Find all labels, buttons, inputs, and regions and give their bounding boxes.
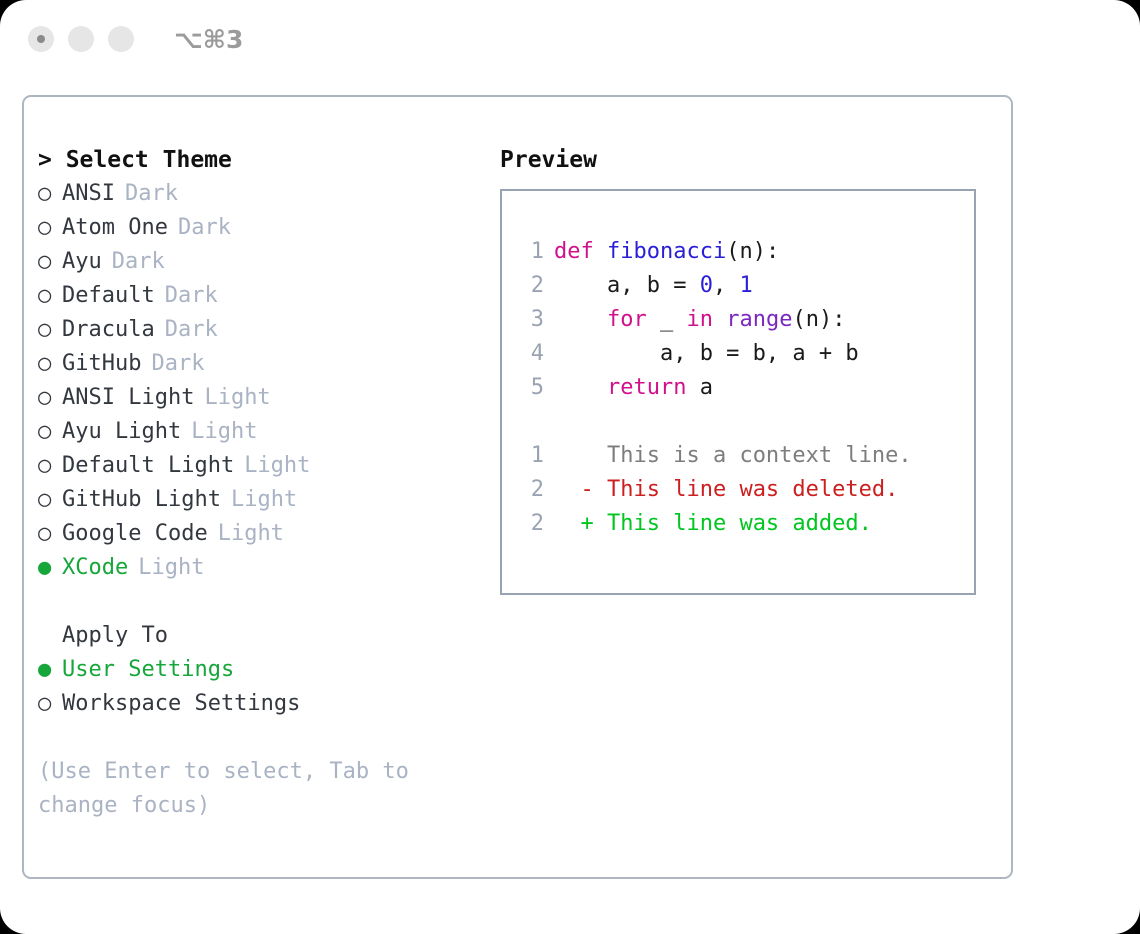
theme-list-item[interactable]: ○Google CodeLight xyxy=(38,517,488,551)
diff-sample: 1 This is a context line.2 - This line w… xyxy=(516,439,974,541)
theme-list-item[interactable]: ○GitHub LightLight xyxy=(38,483,488,517)
diff-line: 1 This is a context line. xyxy=(516,439,974,473)
theme-variant-tag: Dark xyxy=(112,245,165,279)
window-dot-active-icon[interactable] xyxy=(28,26,54,52)
apply-to-item[interactable]: ●User Settings xyxy=(38,653,488,687)
theme-name: ANSI xyxy=(62,177,115,211)
theme-variant-tag: Light xyxy=(191,415,257,449)
theme-name: Ayu Light xyxy=(62,415,181,449)
keyboard-hint-text: (Use Enter to select, Tab to change focu… xyxy=(38,755,458,823)
theme-name: Default xyxy=(62,279,155,313)
code-token: (n): xyxy=(792,307,845,332)
theme-selection-column: > Select Theme ○ANSIDark○Atom OneDark○Ay… xyxy=(38,143,488,823)
code-token: 0 xyxy=(700,273,713,298)
radio-unselected-icon[interactable]: ○ xyxy=(38,177,62,211)
theme-variant-tag: Dark xyxy=(125,177,178,211)
theme-variant-tag: Dark xyxy=(165,313,218,347)
code-token: for xyxy=(607,307,647,332)
line-number: 3 xyxy=(516,303,544,337)
theme-list-item[interactable]: ○ANSIDark xyxy=(38,177,488,211)
spacer xyxy=(38,585,488,619)
radio-unselected-icon[interactable]: ○ xyxy=(38,415,62,449)
theme-list[interactable]: ○ANSIDark○Atom OneDark○AyuDark○DefaultDa… xyxy=(38,177,488,585)
keyboard-shortcut-label: ⌥⌘3 xyxy=(174,25,243,54)
line-number: 5 xyxy=(516,371,544,405)
code-token: return xyxy=(607,375,686,400)
line-number: 4 xyxy=(516,337,544,371)
title-bar: ⌥⌘3 xyxy=(0,0,1140,78)
theme-name: Google Code xyxy=(62,517,208,551)
line-number: 1 xyxy=(516,235,544,269)
diff-text: This is a context line. xyxy=(594,443,912,468)
theme-list-item[interactable]: ○ANSI LightLight xyxy=(38,381,488,415)
line-number: 1 xyxy=(516,439,544,473)
code-token: 1 xyxy=(739,273,752,298)
theme-variant-tag: Light xyxy=(138,551,204,585)
code-sample: 1def fibonacci(n):2 a, b = 0, 13 for _ i… xyxy=(516,235,974,405)
radio-unselected-icon[interactable]: ○ xyxy=(38,517,62,551)
line-number: 2 xyxy=(516,507,544,541)
theme-list-item[interactable]: ○AyuDark xyxy=(38,245,488,279)
theme-list-item[interactable]: ○Ayu LightLight xyxy=(38,415,488,449)
code-line: 1def fibonacci(n): xyxy=(516,235,974,269)
window-dot-2-icon[interactable] xyxy=(68,26,94,52)
apply-to-item[interactable]: ○Workspace Settings xyxy=(38,687,488,721)
diff-sign: + xyxy=(554,511,594,536)
theme-variant-tag: Dark xyxy=(151,347,204,381)
theme-name: GitHub Light xyxy=(62,483,221,517)
line-number: 2 xyxy=(516,269,544,303)
theme-name: GitHub xyxy=(62,347,141,381)
theme-name: Ayu xyxy=(62,245,102,279)
radio-unselected-icon[interactable]: ○ xyxy=(38,483,62,517)
code-token: a, b = xyxy=(554,273,700,298)
theme-variant-tag: Dark xyxy=(165,279,218,313)
traffic-light-group xyxy=(28,26,134,52)
theme-list-item[interactable]: ○DraculaDark xyxy=(38,313,488,347)
theme-variant-tag: Light xyxy=(231,483,297,517)
code-token xyxy=(554,375,607,400)
radio-unselected-icon[interactable]: ○ xyxy=(38,449,62,483)
theme-variant-tag: Light xyxy=(204,381,270,415)
theme-name: XCode xyxy=(62,551,128,585)
diff-text: This line was deleted. xyxy=(594,477,899,502)
theme-list-item[interactable]: ○DefaultDark xyxy=(38,279,488,313)
code-line: 5 return a xyxy=(516,371,974,405)
diff-text: This line was added. xyxy=(594,511,872,536)
code-token: in xyxy=(686,307,713,332)
code-token xyxy=(713,307,726,332)
apply-to-heading: Apply To xyxy=(38,619,488,653)
code-token xyxy=(554,307,607,332)
theme-list-item[interactable]: ●XCodeLight xyxy=(38,551,488,585)
radio-selected-icon[interactable]: ● xyxy=(38,551,62,585)
theme-list-item[interactable]: ○Atom OneDark xyxy=(38,211,488,245)
preview-box: 1def fibonacci(n):2 a, b = 0, 13 for _ i… xyxy=(500,189,976,595)
code-token: (n): xyxy=(726,239,779,264)
theme-name: ANSI Light xyxy=(62,381,194,415)
code-line: 4 a, b = b, a + b xyxy=(516,337,974,371)
code-token: , xyxy=(713,273,740,298)
code-token: fibonacci xyxy=(607,239,726,264)
apply-to-label: User Settings xyxy=(62,653,234,687)
app-window: ⌥⌘3 > Select Theme ○ANSIDark○Atom OneDar… xyxy=(0,0,1140,934)
code-diff-spacer xyxy=(516,405,974,439)
code-token: def xyxy=(554,239,607,264)
radio-unselected-icon[interactable]: ○ xyxy=(38,245,62,279)
select-theme-heading: > Select Theme xyxy=(38,143,488,177)
apply-to-options[interactable]: ●User Settings○Workspace Settings xyxy=(38,653,488,721)
theme-name: Dracula xyxy=(62,313,155,347)
theme-name: Atom One xyxy=(62,211,168,245)
code-token: range xyxy=(726,307,792,332)
radio-unselected-icon[interactable]: ○ xyxy=(38,279,62,313)
diff-line: 2 + This line was added. xyxy=(516,507,974,541)
diff-line: 2 - This line was deleted. xyxy=(516,473,974,507)
radio-unselected-icon[interactable]: ○ xyxy=(38,381,62,415)
diff-sign xyxy=(554,443,594,468)
radio-unselected-icon[interactable]: ○ xyxy=(38,687,62,721)
preview-heading: Preview xyxy=(500,143,1000,177)
code-token: a xyxy=(686,375,713,400)
theme-list-item[interactable]: ○GitHubDark xyxy=(38,347,488,381)
radio-selected-icon[interactable]: ● xyxy=(38,653,62,687)
diff-sign: - xyxy=(554,477,594,502)
spacer-2 xyxy=(38,721,488,755)
window-dot-3-icon[interactable] xyxy=(108,26,134,52)
theme-picker-card: > Select Theme ○ANSIDark○Atom OneDark○Ay… xyxy=(22,95,1013,879)
theme-variant-tag: Light xyxy=(218,517,284,551)
preview-column: Preview 1def fibonacci(n):2 a, b = 0, 13… xyxy=(500,143,1000,595)
radio-unselected-icon[interactable]: ○ xyxy=(38,211,62,245)
radio-unselected-icon[interactable]: ○ xyxy=(38,347,62,381)
code-line: 2 a, b = 0, 1 xyxy=(516,269,974,303)
code-token: a, b = b, a + b xyxy=(554,341,859,366)
code-line: 3 for _ in range(n): xyxy=(516,303,974,337)
line-number: 2 xyxy=(516,473,544,507)
theme-list-item[interactable]: ○Default LightLight xyxy=(38,449,488,483)
apply-to-label: Workspace Settings xyxy=(62,687,300,721)
theme-variant-tag: Light xyxy=(244,449,310,483)
radio-unselected-icon[interactable]: ○ xyxy=(38,313,62,347)
code-token: _ xyxy=(647,307,687,332)
theme-variant-tag: Dark xyxy=(178,211,231,245)
theme-name: Default Light xyxy=(62,449,234,483)
